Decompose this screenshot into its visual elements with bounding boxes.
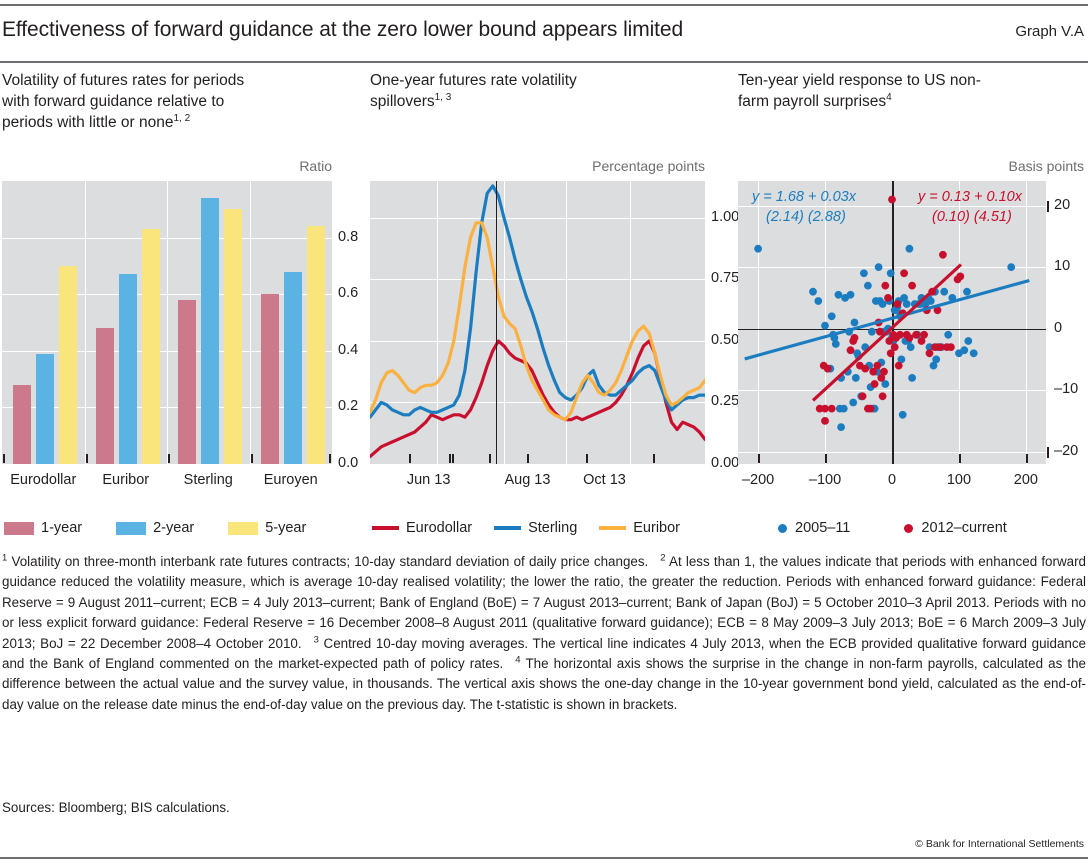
scatter-point-2012–current xyxy=(871,380,879,388)
legend-dot-2012–current xyxy=(904,524,913,533)
bar-eurodollar-5-year xyxy=(59,266,77,464)
panel1-legend-item-1-year: 1-year xyxy=(4,520,82,536)
legend-dot-2005–11 xyxy=(778,524,787,533)
panel1-legend-label-5-year: 5-year xyxy=(265,520,306,536)
panel1-x-tick xyxy=(251,454,253,463)
panel3-y-edge-tick--20 xyxy=(1047,447,1049,458)
panel3-legend: 2005–112012–current xyxy=(778,520,1078,536)
scatter-point-2005–11 xyxy=(940,288,948,296)
panel1-unit-label: Ratio xyxy=(2,158,332,174)
panel1-x-label-euribor: Euribor xyxy=(85,472,168,488)
scatter-point-2012–current xyxy=(900,269,908,277)
bar-euroyen-1-year xyxy=(261,294,279,464)
bar-sterling-5-year xyxy=(224,209,242,464)
scatter-point-2005–11 xyxy=(754,245,762,253)
panel2-y-label-0.50: 0.50 xyxy=(711,332,739,348)
panel3-x-label-200: 200 xyxy=(981,472,1071,488)
panel2-x-tick-6 xyxy=(653,454,655,463)
panel2-x-tick-3 xyxy=(489,454,491,463)
scatter-point-2012–current xyxy=(859,392,867,400)
regression-line-2005–11 xyxy=(745,281,1030,359)
top-rule xyxy=(0,4,1088,6)
panel1-legend-item-5-year: 5-year xyxy=(228,520,306,536)
scatter-point-2005–11 xyxy=(840,405,848,413)
panel1-group-divider xyxy=(85,181,86,464)
scatter-point-2005–11 xyxy=(963,288,971,296)
scatter-point-2012–current xyxy=(880,368,888,376)
legend-swatch-2-year xyxy=(116,522,146,535)
scatter-point-2012–current xyxy=(861,365,869,373)
scatter-point-2005–11 xyxy=(837,423,845,431)
bar-eurodollar-1-year xyxy=(13,385,31,464)
panel1-x-tick-end xyxy=(329,454,331,463)
scatter-point-2012–current xyxy=(879,392,887,400)
scatter-point-2005–11 xyxy=(814,297,822,305)
panel3-y-label-–10: –10 xyxy=(1054,381,1078,397)
panel3-blue-tstats: (2.14) (2.88) xyxy=(766,209,846,225)
panel3-legend-label-2012–current: 2012–current xyxy=(921,520,1006,536)
panel2-series-lines xyxy=(370,181,705,464)
footnote-1-text: Volatility on three-month interbank rate… xyxy=(12,554,649,569)
panel2-line-Euribor xyxy=(370,223,705,420)
scatter-point-2005–11 xyxy=(960,346,968,354)
scatter-point-2012–current xyxy=(828,405,836,413)
bottom-rule xyxy=(0,857,1088,859)
bar-euribor-2-year xyxy=(119,274,137,464)
scatter-point-2012–current xyxy=(920,331,928,339)
scatter-point-2012–current xyxy=(851,334,859,342)
panel3-y-edge-tick-20 xyxy=(1047,201,1049,212)
scatter-point-2005–11 xyxy=(852,374,860,382)
panel3-title-line2: farm payroll surprises xyxy=(738,93,886,110)
panel3-blue-equation: y = 1.68 + 0.03x xyxy=(752,189,856,205)
scatter-point-2005–11 xyxy=(927,297,935,305)
scatter-point-2005–11 xyxy=(875,263,883,271)
footnote-4-marker: 4 xyxy=(515,655,520,666)
panel1-y-label-0.6: 0.6 xyxy=(338,285,358,301)
panel2-legend-label-Eurodollar: Eurodollar xyxy=(406,520,472,536)
panel1-title-line1: Volatility of futures rates for periods xyxy=(2,72,244,89)
bar-euroyen-2-year xyxy=(284,272,302,464)
panel3-legend-label-2005–11: 2005–11 xyxy=(795,520,850,536)
scatter-point-2012–current xyxy=(884,294,892,302)
panel1-y-label-0.8: 0.8 xyxy=(338,229,358,245)
panel3-title-sup: 4 xyxy=(886,92,892,103)
panel3-x-tick-1 xyxy=(825,454,827,463)
sources-line: Sources: Bloomberg; BIS calculations. xyxy=(2,800,230,815)
panel3-unit-label: Basis points xyxy=(738,158,1084,174)
panel2-y-label-0.00: 0.00 xyxy=(711,455,739,471)
scatter-point-2012–current xyxy=(824,365,832,373)
scatter-point-2012–current xyxy=(894,300,902,308)
scatter-point-2012–current xyxy=(908,282,916,290)
panel1-y-label-0.4: 0.4 xyxy=(338,342,358,358)
panel1-title-line3: periods with little or none xyxy=(2,114,173,131)
scatter-point-2012–current xyxy=(947,343,955,351)
panel2-legend-label-Sterling: Sterling xyxy=(528,520,577,536)
panel3-x-tick-3 xyxy=(959,454,961,463)
panel2-gridline xyxy=(370,464,705,465)
panel2-x-label-Oct 13: Oct 13 xyxy=(560,472,650,488)
panel1-x-label-sterling: Sterling xyxy=(167,472,250,488)
panel2-y-label-1.00: 1.00 xyxy=(711,209,739,225)
panel2-title: One-year futures rate volatility spillov… xyxy=(370,70,720,112)
panel2-x-tick-1 xyxy=(449,454,451,463)
title-rule xyxy=(0,61,1088,63)
panel1-title-line2: with forward guidance relative to xyxy=(2,93,224,110)
scatter-point-2012–current xyxy=(912,331,920,339)
scatter-point-2012–current xyxy=(881,282,889,290)
panel2-plot-area xyxy=(370,181,705,464)
bar-euribor-5-year xyxy=(142,229,160,464)
panel3-x-tick-0 xyxy=(758,454,760,463)
panel3-red-equation: y = 0.13 + 0.10x xyxy=(918,189,1022,205)
scatter-point-2012–current xyxy=(939,251,947,259)
footnotes: 1 Volatility on three-month interbank ra… xyxy=(2,552,1086,715)
panel2-title-line2: spillovers xyxy=(370,93,435,110)
panel3-y-label-20: 20 xyxy=(1054,197,1070,213)
scatter-point-2005–11 xyxy=(809,288,817,296)
panel2-y-label-0.75: 0.75 xyxy=(711,270,739,286)
scatter-point-2012–current xyxy=(821,405,829,413)
panel2-title-line1: One-year futures rate volatility xyxy=(370,72,577,89)
bar-euribor-1-year xyxy=(96,328,114,464)
panel1-legend-item-2-year: 2-year xyxy=(116,520,194,536)
panel2-event-line xyxy=(496,181,498,464)
footnote-1-marker: 1 xyxy=(2,553,7,564)
panel2-x-tick-5 xyxy=(586,454,588,463)
panel1-group-divider xyxy=(250,181,251,464)
scatter-point-2005–11 xyxy=(879,300,887,308)
panel2-x-tick-2 xyxy=(452,454,454,463)
panel1-y-label-0.0: 0.0 xyxy=(338,455,358,471)
panel3-title-line1: Ten-year yield response to US non- xyxy=(738,72,981,89)
copyright-line: © Bank for International Settlements xyxy=(915,838,1084,850)
panel1-legend-label-2-year: 2-year xyxy=(153,520,194,536)
panel1-x-tick xyxy=(86,454,88,463)
panel3-legend-item-2005–11: 2005–11 xyxy=(778,520,850,536)
scatter-point-2012–current xyxy=(956,273,964,281)
footnote-3-marker: 3 xyxy=(314,634,319,645)
panel1-title: Volatility of futures rates for periods … xyxy=(2,70,354,133)
panel1-legend-label-1-year: 1-year xyxy=(41,520,82,536)
scatter-point-2005–11 xyxy=(970,349,978,357)
panel-volatility-spillovers: One-year futures rate volatility spillov… xyxy=(370,70,720,112)
panel2-legend: EurodollarSterlingEuribor xyxy=(372,520,707,536)
panel3-title: Ten-year yield response to US non- farm … xyxy=(738,70,1088,112)
bar-eurodollar-2-year xyxy=(36,354,54,464)
scatter-point-2012–current xyxy=(926,349,934,357)
panel1-x-label-euroyen: Euroyen xyxy=(250,472,333,488)
panel2-unit-label: Percentage points xyxy=(370,158,705,174)
scatter-point-2005–11 xyxy=(864,282,872,290)
scatter-point-2012–current xyxy=(895,362,903,370)
scatter-point-2005–11 xyxy=(932,356,940,364)
scatter-point-2005–11 xyxy=(1007,263,1015,271)
panel1-legend: 1-year2-year5-year xyxy=(4,520,334,536)
scatter-point-2005–11 xyxy=(828,312,836,320)
panel3-x-tick-4 xyxy=(1026,454,1028,463)
panel1-x-tick xyxy=(3,454,5,463)
legend-line-Sterling xyxy=(494,526,521,530)
graph-id-label: Graph V.A xyxy=(1015,23,1084,40)
legend-line-Euribor xyxy=(599,526,626,530)
bar-sterling-1-year xyxy=(178,300,196,464)
footnote-2-marker: 2 xyxy=(660,553,665,564)
scatter-point-2005–11 xyxy=(868,328,876,336)
panel1-x-tick xyxy=(168,454,170,463)
legend-swatch-5-year xyxy=(228,522,258,535)
scatter-point-2005–11 xyxy=(907,343,915,351)
panel-volatility-ratio: Volatility of futures rates for periods … xyxy=(2,70,354,133)
scatter-point-2005–11 xyxy=(899,411,907,419)
scatter-point-2005–11 xyxy=(849,399,857,407)
panel2-x-tick-0 xyxy=(409,454,411,463)
panel1-y-label-0.2: 0.2 xyxy=(338,398,358,414)
scatter-point-2005–11 xyxy=(944,331,952,339)
graph-page: Effectiveness of forward guidance at the… xyxy=(0,0,1088,863)
scatter-point-2005–11 xyxy=(835,291,843,299)
scatter-point-2012–current xyxy=(873,362,881,370)
panel3-red-tstats: (0.10) (4.51) xyxy=(932,209,1012,225)
panel1-x-label-eurodollar: Eurodollar xyxy=(2,472,85,488)
scatter-point-2005–11 xyxy=(906,245,914,253)
panel3-y-label-–20: –20 xyxy=(1054,443,1078,459)
panel1-title-sup: 1, 2 xyxy=(173,113,190,124)
scatter-point-2005–11 xyxy=(821,322,829,330)
bar-euroyen-5-year xyxy=(307,226,325,464)
scatter-point-2005–11 xyxy=(903,300,911,308)
panel3-legend-item-2012–current: 2012–current xyxy=(904,520,1006,536)
scatter-point-2005–11 xyxy=(908,374,916,382)
scatter-point-2005–11 xyxy=(887,269,895,277)
legend-line-Eurodollar xyxy=(372,526,399,530)
panel2-y-label-0.25: 0.25 xyxy=(711,393,739,409)
panel2-legend-label-Euribor: Euribor xyxy=(633,520,680,536)
panel2-legend-item-Euribor: Euribor xyxy=(599,520,680,536)
legend-swatch-1-year xyxy=(4,522,34,535)
panel3-y-label-10: 10 xyxy=(1054,258,1070,274)
panel3-x-tick-2 xyxy=(892,454,894,463)
bar-sterling-2-year xyxy=(201,198,219,464)
panel2-legend-item-Eurodollar: Eurodollar xyxy=(372,520,472,536)
panel1-gridline xyxy=(2,464,332,465)
panel3-y-label-0: 0 xyxy=(1054,320,1062,336)
scatter-point-2012–current xyxy=(888,196,896,204)
scatter-point-2005–11 xyxy=(860,269,868,277)
scatter-point-2012–current xyxy=(891,343,899,351)
scatter-point-2012–current xyxy=(847,346,855,354)
page-title: Effectiveness of forward guidance at the… xyxy=(2,17,683,43)
scatter-point-2005–11 xyxy=(851,319,859,327)
scatter-point-2005–11 xyxy=(847,291,855,299)
panel2-x-tick-4 xyxy=(527,454,529,463)
panel2-legend-item-Sterling: Sterling xyxy=(494,520,577,536)
panel-yield-response: Ten-year yield response to US non- farm … xyxy=(738,70,1088,112)
scatter-point-2012–current xyxy=(821,417,829,425)
panel2-title-sup: 1, 3 xyxy=(435,92,452,103)
scatter-point-2012–current xyxy=(906,334,914,342)
scatter-point-2012–current xyxy=(896,331,904,339)
scatter-point-2012–current xyxy=(867,405,875,413)
panel1-group-divider xyxy=(167,181,168,464)
scatter-point-2005–11 xyxy=(832,340,840,348)
scatter-point-2005–11 xyxy=(964,337,972,345)
panel2-x-label-Jun 13: Jun 13 xyxy=(384,472,474,488)
scatter-point-2012–current xyxy=(936,343,944,351)
